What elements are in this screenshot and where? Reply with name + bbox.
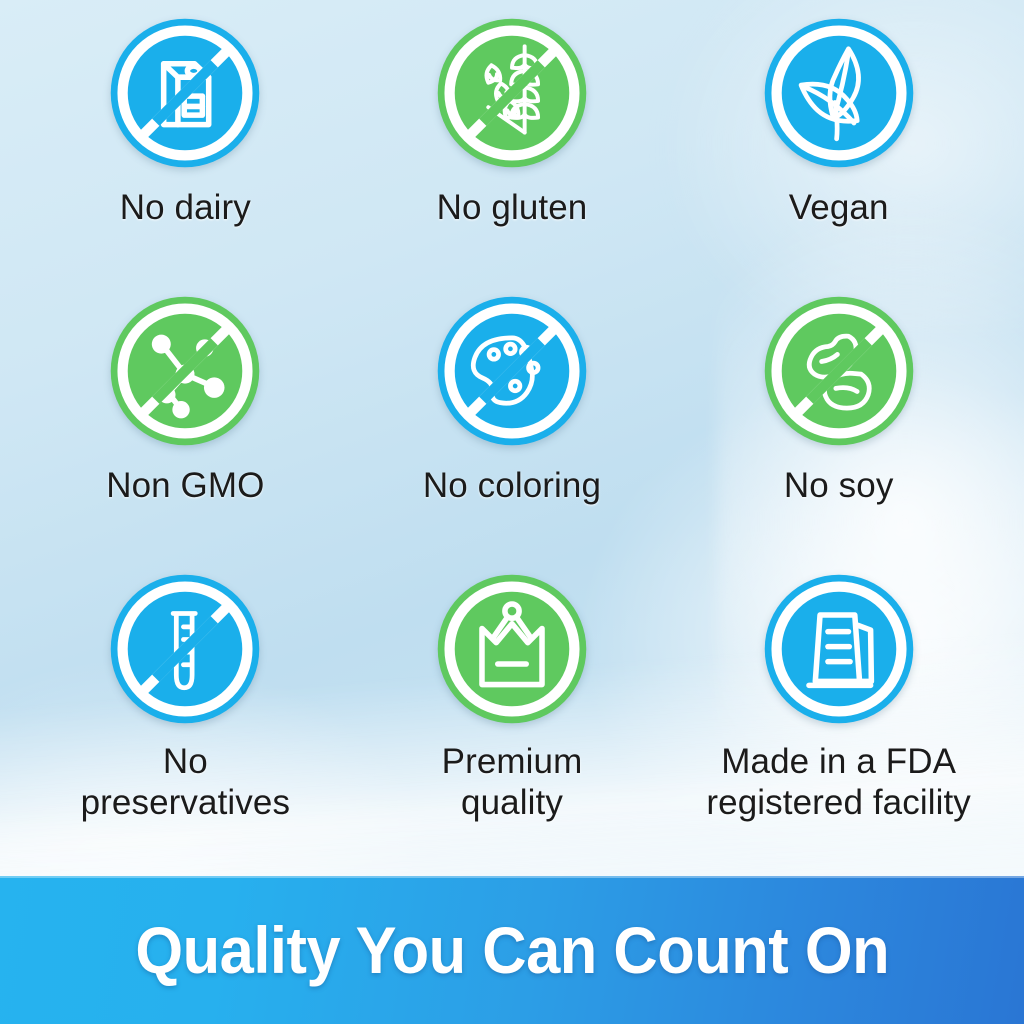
badge-label: No dairy — [120, 188, 251, 229]
milk-carton-icon — [106, 14, 264, 172]
badge-non-gmo[interactable]: Non GMO — [22, 284, 349, 562]
molecule-icon — [106, 292, 264, 450]
badge-label: Made in a FDA registered facility — [706, 742, 971, 824]
badge-label: No coloring — [423, 466, 601, 507]
badge-no-gluten[interactable]: No gluten — [349, 6, 676, 284]
test-tube-icon — [106, 570, 264, 728]
badge-no-preservatives[interactable]: No preservatives — [22, 562, 349, 878]
badge-premium-quality[interactable]: Premium quality — [349, 562, 676, 878]
soy-beans-icon — [760, 292, 918, 450]
product-trust-badges-graphic: No dairy — [0, 0, 1024, 1024]
badge-label: Premium quality — [442, 742, 583, 824]
badge-no-coloring[interactable]: No coloring — [349, 284, 676, 562]
badge-label: No gluten — [437, 188, 588, 229]
crown-icon — [433, 570, 591, 728]
banner-headline: Quality You Can Count On — [135, 912, 889, 988]
factory-building-icon — [760, 570, 918, 728]
badge-vegan[interactable]: Vegan — [675, 6, 1002, 284]
badge-label: No soy — [784, 466, 894, 507]
badge-label: Non GMO — [106, 466, 264, 507]
badge-label: Vegan — [789, 188, 889, 229]
leaf-sprout-icon — [760, 14, 918, 172]
badge-no-soy[interactable]: No soy — [675, 284, 1002, 562]
badge-made-in-fda-registered-facility[interactable]: Made in a FDA registered facility — [675, 562, 1002, 878]
wheat-stalk-icon — [433, 14, 591, 172]
badge-grid: No dairy — [0, 0, 1024, 872]
paint-palette-icon — [433, 292, 591, 450]
badge-label: No preservatives — [81, 742, 290, 824]
badge-no-dairy[interactable]: No dairy — [22, 6, 349, 284]
quality-banner: Quality You Can Count On — [0, 876, 1024, 1024]
